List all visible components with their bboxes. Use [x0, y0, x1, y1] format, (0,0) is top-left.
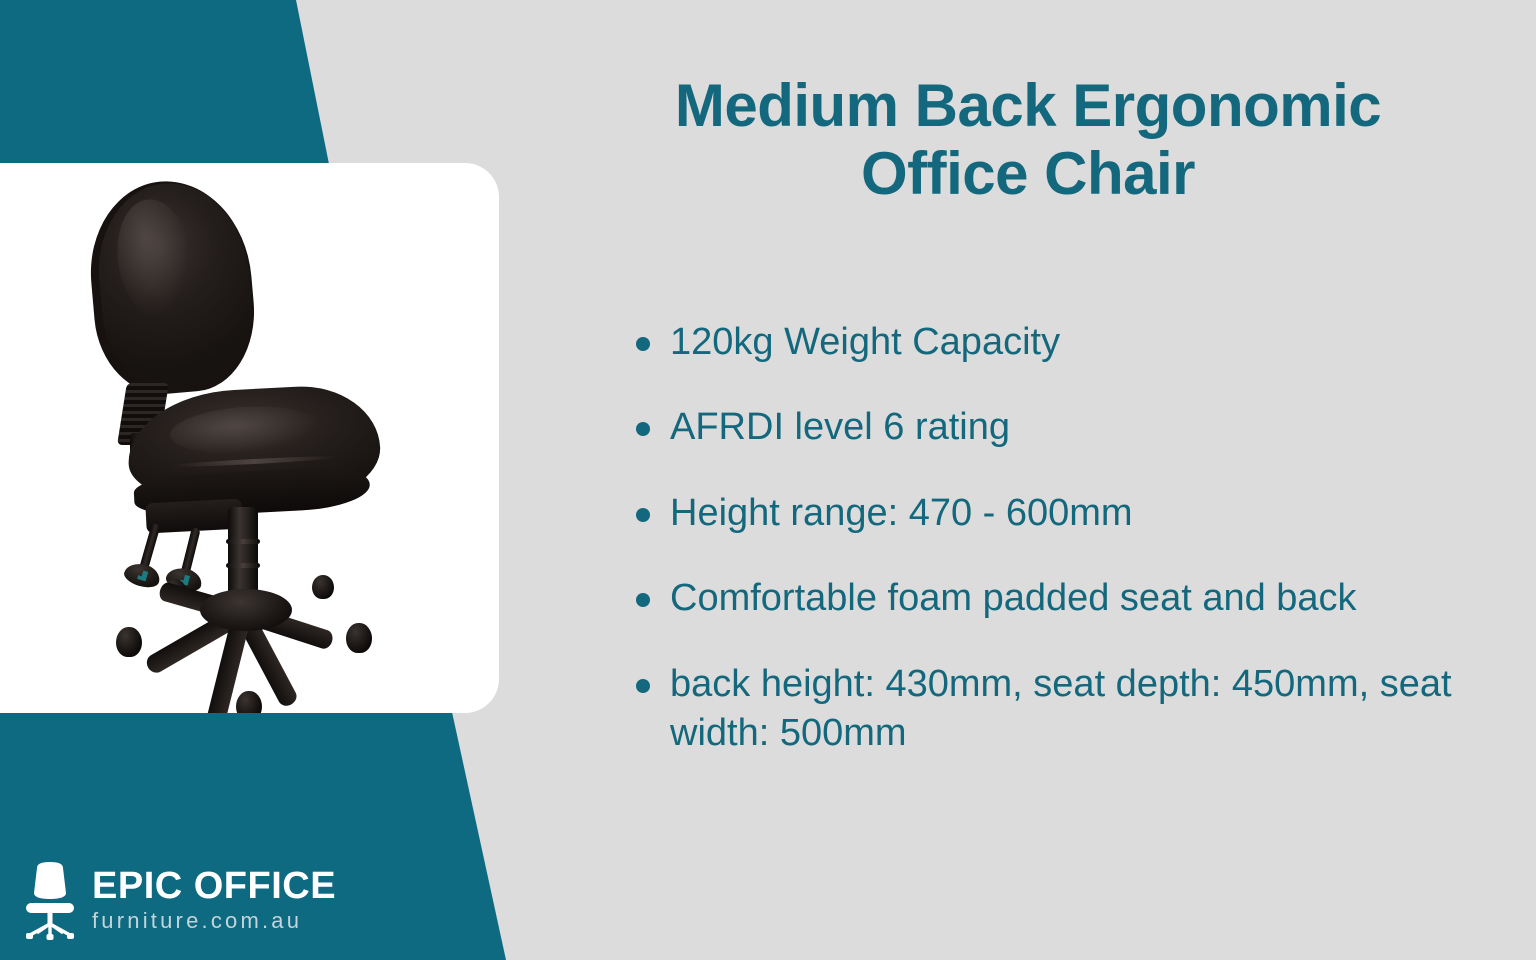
logo-brand-name: EPIC OFFICE [92, 867, 336, 906]
list-item: AFRDI level 6 rating [578, 403, 1536, 452]
chair-caster [116, 627, 142, 657]
page-title-line-1: Medium Back Ergonomic [675, 72, 1381, 139]
cylinder-ring [226, 563, 260, 568]
product-feature-slide: Medium Back Ergonomic Office Chair 120kg… [0, 0, 1536, 960]
chair-base-hub [200, 589, 292, 631]
office-chair-icon [22, 862, 78, 940]
cylinder-ring [226, 539, 260, 544]
list-item: Height range: 470 - 600mm [578, 489, 1536, 538]
product-image [0, 163, 499, 713]
office-chair-illustration [60, 171, 440, 711]
logo-domain: furniture.com.au [92, 908, 336, 935]
teal-accent-shape-top [0, 0, 360, 164]
list-item: 120kg Weight Capacity [578, 318, 1536, 367]
feature-list: 120kg Weight Capacity AFRDI level 6 rati… [578, 318, 1536, 794]
chair-caster [312, 575, 334, 599]
list-item: Comfortable foam padded seat and back [578, 574, 1536, 623]
logo-text: EPIC OFFICE furniture.com.au [92, 867, 336, 936]
brand-logo: EPIC OFFICE furniture.com.au [22, 862, 336, 940]
page-title-line-2: Office Chair [861, 140, 1195, 207]
list-item: back height: 430mm, seat depth: 450mm, s… [578, 660, 1536, 759]
chair-caster [346, 623, 372, 653]
chair-caster [236, 691, 262, 713]
content-column: Medium Back Ergonomic Office Chair 120kg… [530, 0, 1536, 960]
page-title: Medium Back Ergonomic Office Chair [548, 72, 1508, 208]
product-image-card [0, 163, 499, 713]
